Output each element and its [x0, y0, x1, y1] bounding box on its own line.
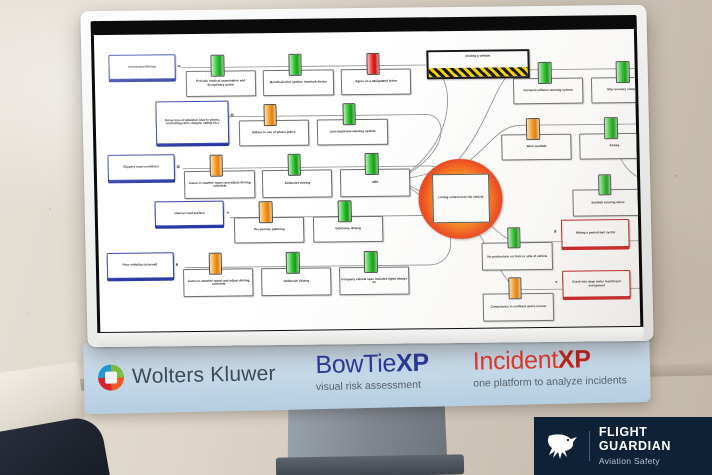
bowtiexp-name-bold: XP [396, 349, 429, 378]
barrier-effectiveness-gate[interactable] [209, 155, 223, 177]
barrier-label: Defensive driving [284, 280, 309, 284]
barrier-effectiveness-gate[interactable] [364, 251, 378, 273]
threat-node[interactable]: Intoxicated driving [108, 54, 176, 80]
barrier-effectiveness-gate[interactable] [507, 227, 521, 249]
threat-node[interactable]: Poor visibility (external) [106, 252, 174, 278]
threat-label: Uneven road surface [174, 212, 204, 216]
hazard-node[interactable]: Driving a vehicle [426, 49, 529, 78]
barrier-label: Periodic medical examination and discipl… [188, 80, 254, 88]
barrier-effectiveness-gate[interactable] [338, 201, 352, 223]
connector-dot [177, 165, 180, 168]
incidentxp-name: IncidentXP [473, 346, 627, 374]
watermark-text-block: FLIGHT GUARDIAN Aviation Safety [599, 426, 700, 466]
barrier-effectiveness-gate[interactable] [365, 153, 379, 175]
threat-label: Intoxicated driving [128, 65, 155, 69]
barrier-effectiveness-gate[interactable] [366, 53, 380, 75]
bowtiexp-tagline: visual risk assessment [316, 379, 430, 393]
barrier-label: Defensive driving [335, 227, 360, 231]
threat-node[interactable]: Uneven road surface [155, 201, 225, 227]
barrier-label: Adhere to use of phone policy [252, 131, 296, 135]
threat-label: Slippery road conditions [123, 166, 159, 170]
wolters-kluwer-name: Wolters Kluwer [132, 362, 276, 389]
barrier-effectiveness-gate[interactable] [287, 154, 301, 176]
hazard-warning-stripe-icon [429, 67, 528, 76]
barrier-label: Wear seatbelt [527, 145, 547, 149]
threat-label: Poor visibility (external) [123, 264, 158, 268]
barrier-effectiveness-gate[interactable] [263, 104, 277, 126]
barrier-label: Listen to weather report and adjust driv… [185, 279, 251, 287]
barrier-label: Lane departure warning system [330, 130, 376, 134]
barrier-label: ABS [372, 181, 379, 185]
watermark-divider [589, 431, 590, 461]
barrier-effectiveness-gate[interactable] [210, 55, 224, 77]
barrier-label: Competence in confined space rescue [491, 305, 547, 309]
barrier-effectiveness-gate[interactable] [538, 62, 552, 84]
watermark-subtitle: Aviation Safety [599, 456, 700, 466]
barrier-label: Company vehicle spec includes lights alw… [341, 277, 407, 285]
consequence-label: Crash into deep water resulting in entra… [565, 280, 629, 288]
consequence-node[interactable]: Crash into deep water resulting in entra… [562, 270, 631, 299]
threat-node[interactable]: Slippery road conditions [107, 154, 175, 180]
top-event-label: Losing control over the vehicle [438, 196, 483, 200]
barrier-effectiveness-gate[interactable] [342, 103, 356, 125]
connector-dot [176, 263, 179, 266]
hazard-label: Driving a vehicle [430, 53, 525, 58]
top-event-label-box[interactable]: Losing control over the vehicle [432, 173, 490, 223]
barrier-effectiveness-gate[interactable] [508, 277, 522, 299]
barrier-label: Defensive driving [285, 182, 310, 186]
barrier-effectiveness-gate[interactable] [604, 117, 618, 139]
consequence-label: Hitting a pedestrian/ cyclist [576, 231, 616, 235]
incidentxp-tagline: one platform to analyze incidents [473, 374, 627, 389]
barrier-label: Breath alcohol ignition interlock device [270, 81, 327, 85]
watermark-title: FLIGHT GUARDIAN [599, 426, 700, 454]
incidentxp-name-bold: XP [558, 345, 591, 374]
eagle-head-icon [546, 431, 580, 461]
photo-scene: Wolters Kluwer BowTieXP visual risk asse… [0, 0, 712, 475]
barrier-label: Pre-journey planning [254, 228, 285, 232]
incidentxp-name-light: Incident [473, 346, 559, 376]
flight-guardian-watermark: FLIGHT GUARDIAN Aviation Safety [534, 417, 712, 475]
barrier-effectiveness-gate[interactable] [616, 61, 630, 83]
monitor-screen: Driving a vehicle Losing control over th… [94, 29, 640, 332]
bowtiexp-name-light: BowTie [315, 349, 396, 379]
monitor-stand-base [276, 454, 464, 475]
consequence-node[interactable]: Hitting a pedestrian/ cyclist [561, 219, 630, 248]
barrier-effectiveness-gate[interactable] [288, 54, 302, 76]
wolters-kluwer-brand: Wolters Kluwer [98, 361, 276, 391]
barrier-label: Forward collision warning system [524, 89, 573, 93]
barrier-effectiveness-gate[interactable] [526, 118, 540, 140]
computer-monitor: Driving a vehicle Losing control over th… [80, 5, 653, 347]
barrier-effectiveness-gate[interactable] [598, 174, 612, 196]
barrier-effectiveness-gate[interactable] [208, 253, 222, 275]
threat-node[interactable]: Driver loss of attention (due to phone, … [156, 100, 229, 144]
barrier-label: Listen to weather report and adjust driv… [187, 181, 253, 189]
barrier-effectiveness-gate[interactable] [259, 201, 273, 223]
bowtiexp-brand: BowTieXP visual risk assessment [315, 351, 429, 393]
barrier-label: Agree on a designated driver [355, 80, 397, 84]
bowtie-diagram[interactable]: Driving a vehicle Losing control over th… [94, 29, 640, 332]
incidentxp-brand: IncidentXP one platform to analyze incid… [473, 346, 627, 389]
connector-dot [231, 114, 234, 117]
barrier-label: No protrusions on front or side of vehic… [487, 254, 547, 258]
barrier-label: Seatbelt wearing alarm [591, 201, 624, 205]
barrier-label: Airbag [609, 144, 619, 148]
wolters-kluwer-logo-icon [98, 364, 125, 391]
barrier-effectiveness-gate[interactable] [286, 252, 300, 274]
bowtiexp-name: BowTieXP [315, 351, 429, 378]
threat-label: Driver loss of attention (due to phone, … [158, 118, 227, 126]
